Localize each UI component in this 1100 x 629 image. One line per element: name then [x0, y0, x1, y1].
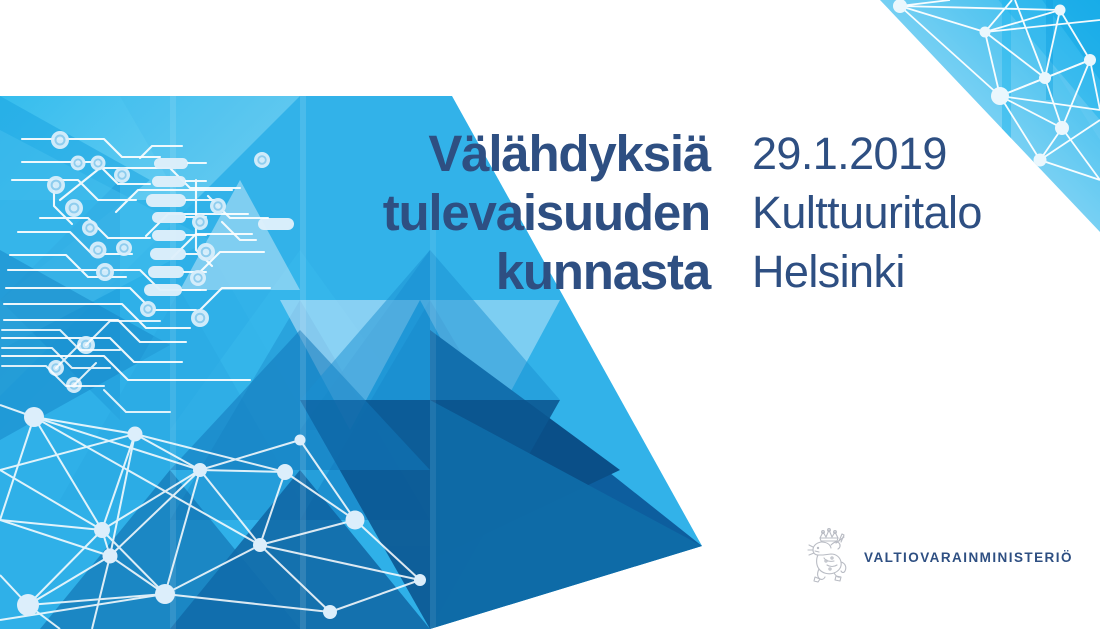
event-venue: Kulttuuritalo: [752, 183, 1072, 242]
finnish-lion-crest-icon: [806, 527, 852, 587]
title-line-3: kunnasta: [300, 242, 710, 301]
ministry-name: VALTIOVARAINMINISTERIÖ: [864, 550, 1073, 565]
event-city: Helsinki: [752, 242, 1072, 301]
ministry-logo: VALTIOVARAINMINISTERIÖ: [806, 527, 1073, 587]
title-line-1: Välähdyksiä: [300, 124, 710, 183]
event-date: 29.1.2019: [752, 124, 1072, 183]
event-title: Välähdyksiä tulevaisuuden kunnasta: [300, 124, 710, 301]
event-banner: Välähdyksiä tulevaisuuden kunnasta 29.1.…: [0, 0, 1100, 629]
title-line-2: tulevaisuuden: [300, 183, 710, 242]
event-details: 29.1.2019 Kulttuuritalo Helsinki: [752, 124, 1072, 301]
